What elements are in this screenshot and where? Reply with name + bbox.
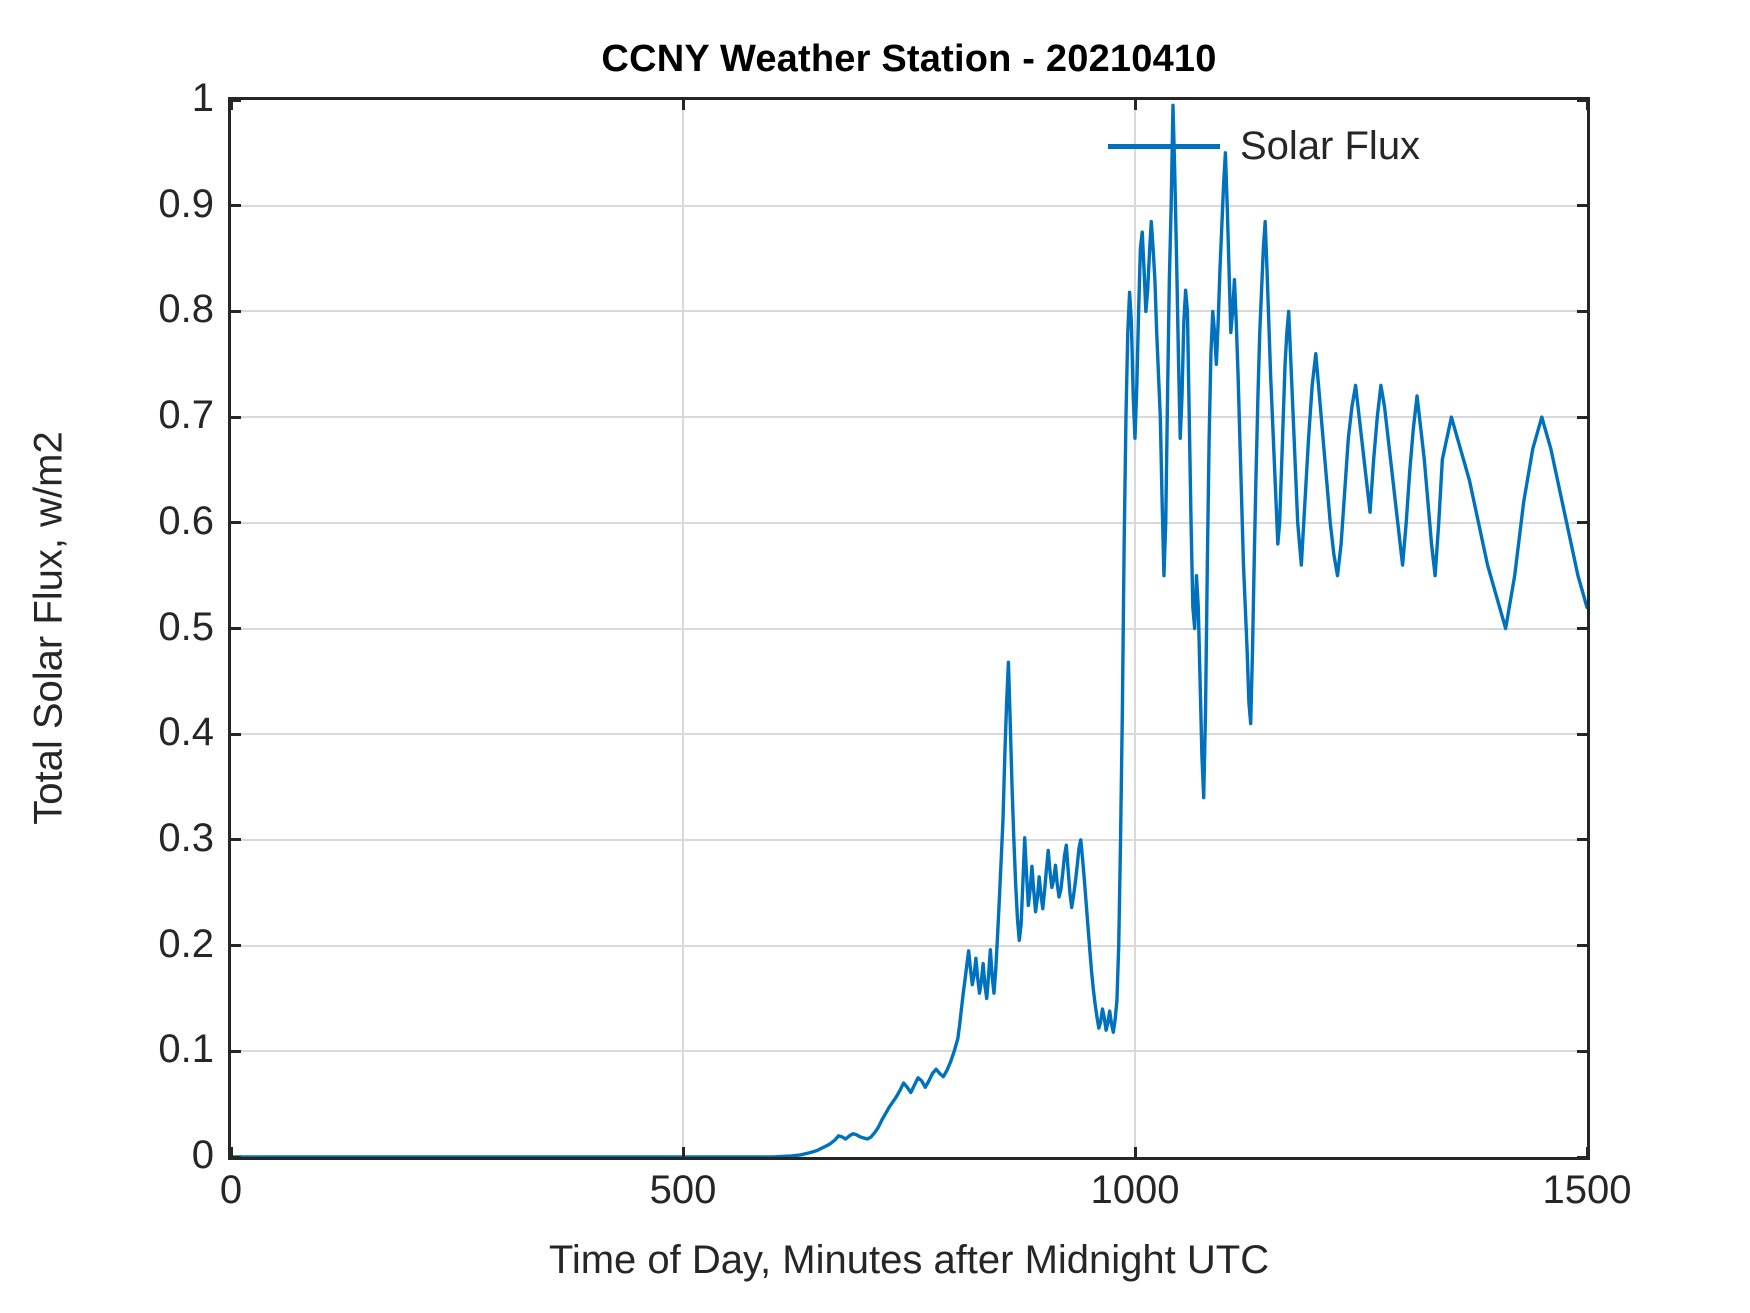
y-tick-mark-0.4 xyxy=(228,733,241,736)
series-solar-flux xyxy=(231,105,1587,1157)
y-tick-mark-right-0.8 xyxy=(1577,310,1590,313)
page-title: CCNY Weather Station - 20210410 xyxy=(228,38,1590,81)
legend-line-solar-flux xyxy=(1108,144,1220,149)
y-tick-mark-0.9 xyxy=(228,204,241,207)
y-tick-label-0.1: 0.1 xyxy=(158,1029,214,1069)
y-tick-mark-right-0.3 xyxy=(1577,838,1590,841)
plot-area xyxy=(228,97,1590,1160)
y-axis-title: Total Solar Flux, w/m2 xyxy=(27,97,79,1160)
legend-label-solar-flux: Solar Flux xyxy=(1240,124,1420,169)
y-tick-mark-0.6 xyxy=(228,521,241,524)
x-tick-mark-top-0 xyxy=(230,97,233,110)
y-tick-label-0.9: 0.9 xyxy=(158,184,214,224)
y-tick-mark-right-0.4 xyxy=(1577,733,1590,736)
y-tick-mark-0.3 xyxy=(228,838,241,841)
legend[interactable]: Solar Flux xyxy=(1090,108,1435,184)
y-tick-label-0.2: 0.2 xyxy=(158,924,214,964)
x-tick-mark-top-1000 xyxy=(1134,97,1137,110)
y-tick-label-0.7: 0.7 xyxy=(158,395,214,435)
data-series-layer xyxy=(231,100,1587,1157)
x-tick-mark-0 xyxy=(230,1147,233,1160)
y-tick-label-0: 0 xyxy=(192,1135,214,1175)
y-tick-mark-right-0.1 xyxy=(1577,1050,1590,1053)
y-tick-mark-right-0.5 xyxy=(1577,627,1590,630)
y-tick-label-1: 1 xyxy=(192,78,214,118)
y-tick-mark-right-0.9 xyxy=(1577,204,1590,207)
x-tick-label-1500: 1500 xyxy=(1543,1170,1632,1210)
y-tick-mark-0.5 xyxy=(228,627,241,630)
figure-canvas: CCNY Weather Station - 20210410 Solar Fl… xyxy=(0,0,1750,1313)
plot-inner xyxy=(231,100,1587,1157)
y-tick-label-0.3: 0.3 xyxy=(158,818,214,858)
y-tick-label-0.8: 0.8 xyxy=(158,289,214,329)
x-tick-mark-1000 xyxy=(1134,1147,1137,1160)
x-tick-mark-top-1500 xyxy=(1586,97,1589,110)
y-tick-mark-right-0.2 xyxy=(1577,944,1590,947)
y-tick-mark-0.1 xyxy=(228,1050,241,1053)
y-tick-mark-0.8 xyxy=(228,310,241,313)
y-tick-label-0.6: 0.6 xyxy=(158,501,214,541)
y-tick-label-0.4: 0.4 xyxy=(158,712,214,752)
x-tick-mark-top-500 xyxy=(682,97,685,110)
x-tick-label-0: 0 xyxy=(220,1170,242,1210)
x-tick-mark-500 xyxy=(682,1147,685,1160)
x-tick-label-500: 500 xyxy=(650,1170,717,1210)
y-tick-label-0.5: 0.5 xyxy=(158,607,214,647)
y-tick-mark-0.7 xyxy=(228,416,241,419)
y-tick-mark-0.2 xyxy=(228,944,241,947)
y-tick-mark-right-0.6 xyxy=(1577,521,1590,524)
x-tick-label-1000: 1000 xyxy=(1091,1170,1180,1210)
x-tick-mark-1500 xyxy=(1586,1147,1589,1160)
x-axis-title: Time of Day, Minutes after Midnight UTC xyxy=(228,1238,1590,1283)
y-tick-mark-right-0.7 xyxy=(1577,416,1590,419)
